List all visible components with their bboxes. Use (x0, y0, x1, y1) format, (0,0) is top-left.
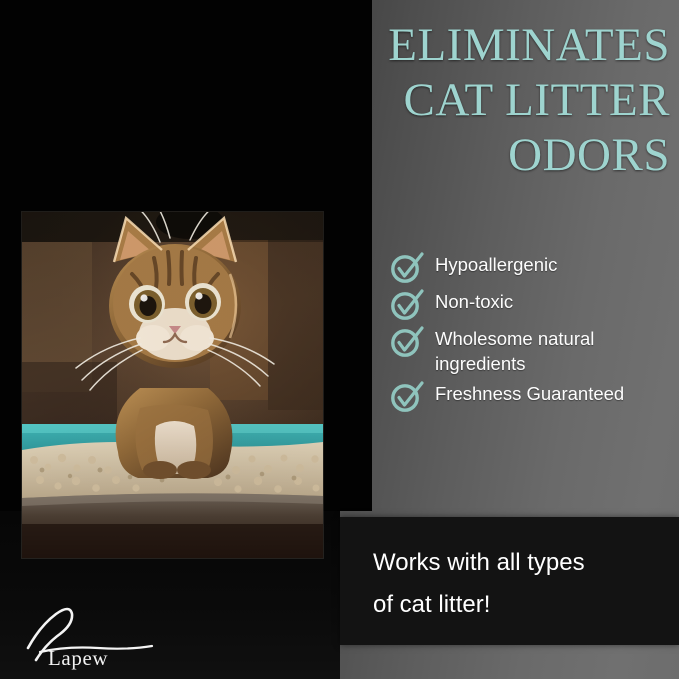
feature-item: Hypoallergenic (390, 252, 672, 284)
headline-line-2: CAT LITTER (300, 73, 670, 128)
callout-line-2: of cat litter! (373, 584, 665, 626)
feature-label: Non-toxic (435, 289, 513, 314)
feature-item: Wholesome natural ingredients (390, 326, 672, 376)
photo-illustration (22, 212, 323, 558)
callout-line-1: Works with all types (373, 542, 665, 584)
feature-label: Freshness Guaranteed (435, 381, 624, 406)
headline-line-3: ODORS (300, 128, 670, 183)
feature-label: Hypoallergenic (435, 252, 557, 277)
headline: ELIMINATES CAT LITTER ODORS (300, 18, 670, 183)
callout-box: Works with all types of cat litter! (340, 517, 679, 645)
callout-text: Works with all types of cat litter! (373, 542, 665, 626)
product-ad-image: ELIMINATES CAT LITTER ODORS (0, 0, 679, 679)
brand-name: Lapew (48, 646, 108, 671)
check-circle-icon (390, 325, 424, 358)
check-circle-icon (390, 251, 424, 284)
feature-item: Non-toxic (390, 289, 672, 321)
feature-item: Freshness Guaranteed (390, 381, 672, 413)
check-circle-icon (390, 380, 424, 413)
check-circle-icon (390, 288, 424, 321)
feature-list: Hypoallergenic Non-toxic Wholesome natur… (390, 252, 672, 418)
feature-label: Wholesome natural ingredients (435, 326, 672, 376)
kitten-litter-box-photo (22, 212, 323, 558)
headline-line-1: ELIMINATES (300, 18, 670, 73)
